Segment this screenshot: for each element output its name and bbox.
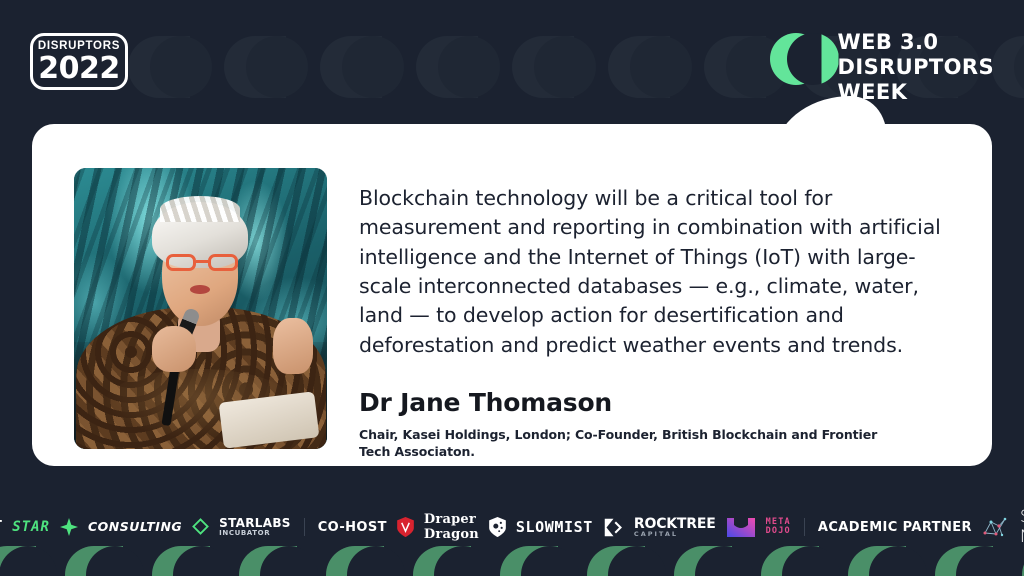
draper-dragon-shield-icon: [397, 517, 414, 537]
star-logo[interactable]: STAR: [12, 519, 50, 535]
sponsor-group-cohost: CO-HOST Draper Dragon SLOWMIST ROCKTREE …: [305, 512, 804, 542]
suss-nft-mark-icon: [982, 515, 1010, 539]
quote-column: Blockchain technology will be a critical…: [327, 154, 956, 440]
sponsor-label-academic-partner: ACADEMIC PARTNER: [818, 520, 972, 535]
pattern-unit: [128, 36, 206, 98]
draper-dragon-logo[interactable]: Draper Dragon: [424, 512, 479, 542]
rocktree-logo[interactable]: ROCKTREE CAPITAL: [634, 517, 716, 538]
brand-line-1: WEB 3.0: [838, 30, 994, 55]
speaker-role: Chair, Kasei Holdings, London; Co-Founde…: [359, 426, 889, 461]
metadojo-mark-icon: [726, 517, 756, 538]
slide-root: DISRUPTORS 2022 WEB 3.0 DISRUPTORS WEEK: [0, 0, 1024, 576]
speaker-photo: [74, 168, 327, 449]
sparkle-icon: [60, 518, 78, 536]
metadojo-sub: DOJO: [766, 527, 791, 536]
footer-pattern-unit: [848, 546, 922, 576]
footer-pattern-row: [0, 546, 1024, 576]
pattern-unit: [608, 36, 686, 98]
metadojo-logo[interactable]: META DOJO: [766, 518, 791, 536]
sponsor-bar: HOST STAR CONSULTING STARLABS INCUBATOR …: [0, 505, 1024, 549]
suss-nft-logo[interactable]: SUSS NiFT: [1020, 507, 1024, 547]
footer-pattern-unit: [935, 546, 1009, 576]
pattern-unit: [320, 36, 398, 98]
slowmist-shield-icon: [489, 517, 506, 537]
starlabs-diamond-icon: [192, 518, 209, 535]
rocktree-mark-icon: [603, 517, 624, 538]
footer-pattern-unit: [65, 546, 139, 576]
consulting-logo[interactable]: CONSULTING: [88, 519, 182, 534]
pattern-unit: [416, 36, 494, 98]
footer-pattern-unit: [326, 546, 400, 576]
quote-text: Blockchain technology will be a critical…: [359, 184, 956, 360]
sponsor-label-cohost: CO-HOST: [318, 520, 387, 535]
brand-lockup: WEB 3.0 DISRUPTORS WEEK: [770, 30, 994, 104]
footer-pattern-unit: [0, 546, 52, 576]
pattern-unit: [224, 36, 302, 98]
web3-disruptors-logo-icon: [770, 33, 822, 85]
sponsor-group-host: HOST STAR CONSULTING STARLABS INCUBATOR: [0, 517, 304, 537]
pattern-unit: [512, 36, 590, 98]
footer-pattern-unit: [674, 546, 748, 576]
sponsor-group-academic: ACADEMIC PARTNER SUSS NiFT: [805, 507, 1024, 547]
slowmist-logo[interactable]: SLOWMIST: [516, 518, 593, 536]
footer-pattern-unit: [413, 546, 487, 576]
footer-pattern-unit: [500, 546, 574, 576]
disruptors-2022-badge: DISRUPTORS 2022: [30, 33, 128, 90]
rocktree-sub: CAPITAL: [634, 531, 716, 538]
starlabs-name: STARLABS: [219, 517, 291, 529]
starlabs-sub: INCUBATOR: [219, 530, 291, 537]
speaker-name: Dr Jane Thomason: [359, 388, 956, 417]
footer-pattern-unit: [761, 546, 835, 576]
footer-pattern-unit: [239, 546, 313, 576]
sponsor-label-host: HOST: [0, 519, 2, 534]
footer-pattern-unit: [587, 546, 661, 576]
badge-year: 2022: [38, 53, 120, 85]
eyeglasses: [166, 254, 238, 271]
pattern-unit: [992, 36, 1024, 98]
starlabs-logo[interactable]: STARLABS INCUBATOR: [219, 517, 291, 537]
quote-card: Blockchain technology will be a critical…: [32, 124, 992, 466]
footer-pattern-unit: [152, 546, 226, 576]
rocktree-name: ROCKTREE: [634, 517, 716, 531]
brand-line-2: DISRUPTORS: [838, 55, 994, 80]
brand-text: WEB 3.0 DISRUPTORS WEEK: [838, 30, 994, 104]
